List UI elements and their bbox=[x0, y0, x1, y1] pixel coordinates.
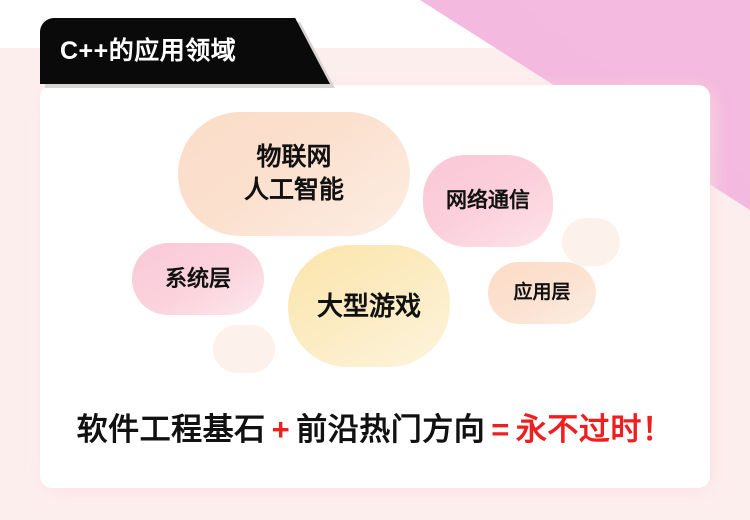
bubble-big-games[interactable]: 大型游戏 bbox=[288, 245, 450, 367]
bubble-application-layer-label: 应用层 bbox=[513, 280, 570, 305]
bubble-network[interactable]: 网络通信 bbox=[423, 155, 553, 247]
bubble-iot-ai-line-1: 物联网 bbox=[244, 141, 344, 174]
decorative-blob-left bbox=[213, 325, 275, 373]
page-title: C++的应用领域 bbox=[40, 39, 236, 64]
tagline-part-2: 前沿热门方向 bbox=[296, 412, 485, 447]
slide-canvas: C++的应用领域 物联网 人工智能 网络通信 系统层 大型游戏 应用层 软件工程… bbox=[0, 0, 750, 520]
title-ribbon: C++的应用领域 bbox=[40, 18, 330, 84]
decorative-blob-right bbox=[562, 218, 620, 266]
bubble-application-layer[interactable]: 应用层 bbox=[488, 262, 596, 324]
bubble-system-layer-label: 系统层 bbox=[165, 264, 231, 293]
bubble-network-label: 网络通信 bbox=[446, 187, 530, 215]
bubble-system-layer[interactable]: 系统层 bbox=[132, 243, 264, 315]
tagline-part-1: 软件工程基石 bbox=[77, 412, 266, 447]
bubble-iot-ai-line-2: 人工智能 bbox=[244, 174, 344, 207]
bubble-big-games-label: 大型游戏 bbox=[317, 289, 421, 323]
tagline-part-3: 永不过时！ bbox=[516, 412, 674, 447]
tagline-operator-plus: + bbox=[266, 412, 297, 447]
bubble-iot-ai[interactable]: 物联网 人工智能 bbox=[178, 112, 410, 236]
tagline: 软件工程基石+前沿热门方向=永不过时！ bbox=[0, 404, 750, 449]
tagline-operator-equals: = bbox=[485, 412, 516, 447]
